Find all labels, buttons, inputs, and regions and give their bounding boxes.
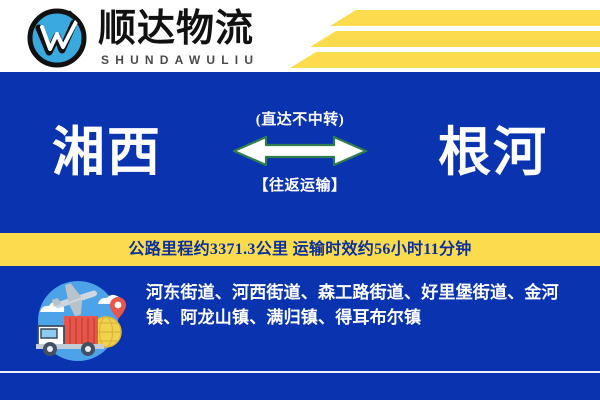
yellow-diagonal-stripes [270, 0, 600, 72]
company-name-cn: 顺达物流 [98, 8, 259, 50]
route-middle-group: (直达不中转) 【往返运输】 [185, 111, 415, 195]
logistics-truck-plane-globe-icon [26, 278, 130, 364]
route-note-roundtrip: 【往返运输】 [185, 177, 415, 195]
distance-duration-bar: 公路里程约3371.3公里 运输时效约56小时11分钟 [0, 233, 600, 266]
company-name-en: SHUNDAWULIU [98, 53, 259, 67]
distance-duration-text: 公路里程约3371.3公里 运输时效约56小时11分钟 [128, 240, 471, 260]
brand-logo: 顺达物流 SHUNDAWULIU [26, 6, 259, 68]
shunda-circle-w-logo-icon [26, 6, 88, 68]
brand-wordmark: 顺达物流 SHUNDAWULIU [98, 6, 259, 67]
origin-city: 湘西 [52, 124, 162, 182]
destination-city: 根河 [438, 124, 548, 182]
coverage-section: 河东街道、河西街道、森工路街道、好里堡街道、金河镇、阿龙山镇、满归镇、得耳布尔镇 [0, 266, 600, 400]
route-note-direct: (直达不中转) [185, 111, 415, 129]
logistics-route-banner: 顺达物流 SHUNDAWULIU 湘西 (直达不中转) 【往返运输】 根河 公路… [0, 0, 600, 400]
coverage-districts-text: 河东街道、河西街道、森工路街道、好里堡街道、金河镇、阿龙山镇、满归镇、得耳布尔镇 [146, 280, 576, 330]
banner-header: 顺达物流 SHUNDAWULIU [0, 0, 600, 72]
route-section: 湘西 (直达不中转) 【往返运输】 根河 [0, 72, 600, 233]
bottom-divider [0, 371, 600, 373]
bidirectional-arrow-icon [230, 134, 370, 168]
